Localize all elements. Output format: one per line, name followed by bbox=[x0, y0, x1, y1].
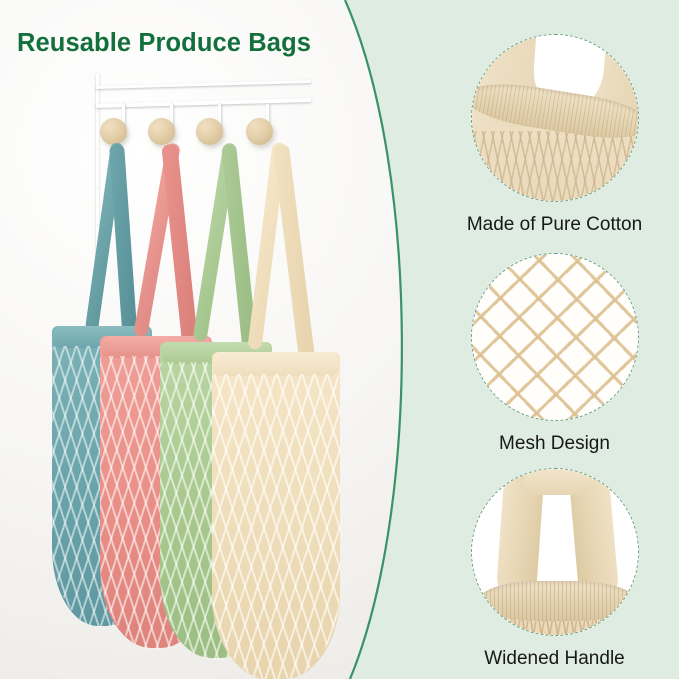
handle-strap-top bbox=[524, 469, 594, 495]
page-title: Reusable Produce Bags bbox=[17, 29, 311, 58]
mesh-net-grid-shadow bbox=[471, 253, 639, 421]
cream-bag-strap-right bbox=[273, 144, 315, 362]
infographic-canvas: Reusable Produce Bags Made of Pure Cotto… bbox=[0, 0, 679, 679]
cream-bag-mesh-texture bbox=[212, 374, 340, 679]
feature-mesh-design: Mesh Design bbox=[430, 253, 679, 455]
feature-widened-handle: Widened Handle bbox=[430, 468, 679, 670]
feature-made-of-pure-cotton: Made of Pure Cotton bbox=[430, 34, 679, 236]
cotton-collar-closeup-image bbox=[471, 34, 639, 202]
mesh-net-closeup-image bbox=[471, 253, 639, 421]
cotton-mesh-weave bbox=[471, 131, 639, 202]
cream-bag-band bbox=[214, 352, 338, 376]
widened-handle-knit-lines bbox=[478, 581, 636, 621]
feature-caption-mesh-design: Mesh Design bbox=[430, 433, 679, 455]
rack-bar-top bbox=[96, 80, 311, 89]
widened-handle-closeup-image bbox=[471, 468, 639, 636]
rack-bar-bottom bbox=[96, 98, 311, 108]
feature-caption-widened-handle: Widened Handle bbox=[430, 648, 679, 670]
cream-mesh-bag bbox=[198, 140, 388, 679]
wire-rack bbox=[96, 74, 311, 114]
feature-caption-pure-cotton: Made of Pure Cotton bbox=[430, 214, 679, 236]
